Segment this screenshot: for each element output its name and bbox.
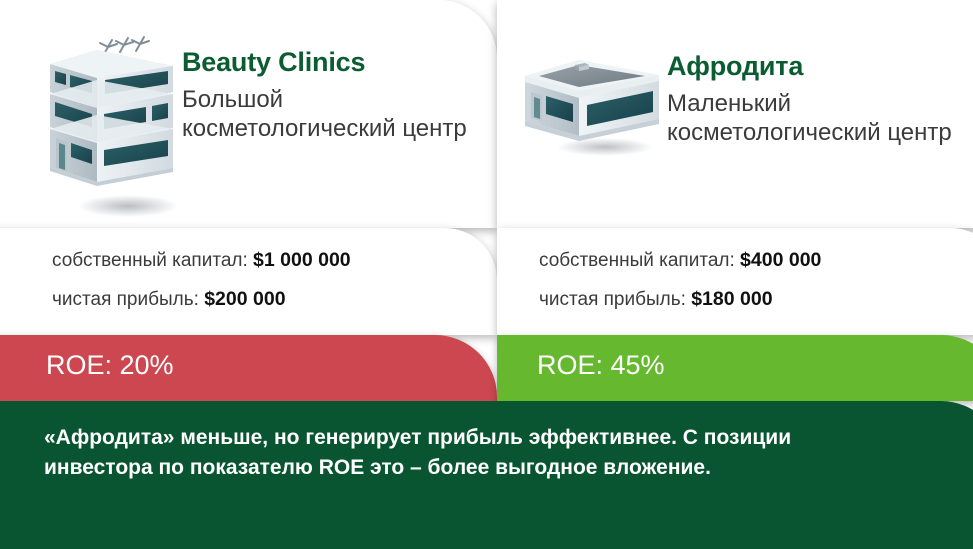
conclusion-banner: «Афродита» меньше, но генерирует прибыль… <box>0 401 973 549</box>
roe-value-label: ROE: 45% <box>537 352 665 379</box>
company-header-afrodita: Афродита Маленький косметологический цен… <box>517 48 967 158</box>
metrics-list: собственный капитал: $400 000 чистая при… <box>539 251 821 309</box>
metric-label: чистая прибыль: <box>539 289 686 310</box>
company-text-afrodita: Афродита Маленький косметологический цен… <box>667 48 967 147</box>
company-text-beauty-clinics: Beauty Clinics Большой косметологический… <box>182 30 482 143</box>
metric-label: собственный капитал: <box>539 250 735 271</box>
company-card-beauty-clinics: Beauty Clinics Большой косметологический… <box>0 0 497 228</box>
roe-comparison-infographic: Beauty Clinics Большой косметологический… <box>0 0 973 549</box>
company-card-afrodita: Афродита Маленький косметологический цен… <box>497 0 973 228</box>
metric-row-equity: собственный капитал: $400 000 <box>539 251 821 271</box>
company-name: Beauty Clinics <box>182 48 482 78</box>
company-header-beauty-clinics: Beauty Clinics Большой косметологический… <box>42 30 482 220</box>
metric-label: чистая прибыль: <box>52 289 199 310</box>
roe-value-label: ROE: 20% <box>46 352 174 379</box>
company-description: Большой косметологический центр <box>182 85 482 144</box>
metric-row-net-profit: чистая прибыль: $180 000 <box>539 290 821 310</box>
company-name: Афродита <box>667 52 967 82</box>
metrics-list: собственный капитал: $1 000 000 чистая п… <box>52 251 351 309</box>
metric-value: $400 000 <box>740 249 821 271</box>
metric-value: $200 000 <box>204 288 285 310</box>
metric-value: $1 000 000 <box>253 249 351 271</box>
small-office-building-icon <box>517 48 667 158</box>
large-office-building-icon <box>42 30 182 220</box>
metric-row-equity: собственный капитал: $1 000 000 <box>52 251 351 271</box>
metric-label: собственный капитал: <box>52 250 248 271</box>
company-description: Маленький косметологический центр <box>667 89 967 148</box>
roe-bar-afrodita: ROE: 45% <box>497 335 973 401</box>
metrics-box-beauty-clinics: собственный капитал: $1 000 000 чистая п… <box>0 228 497 335</box>
metric-value: $180 000 <box>691 288 772 310</box>
metrics-box-afrodita: собственный капитал: $400 000 чистая при… <box>497 228 973 335</box>
conclusion-text: «Афродита» меньше, но генерирует прибыль… <box>44 423 884 484</box>
metric-row-net-profit: чистая прибыль: $200 000 <box>52 290 351 310</box>
roe-bar-beauty-clinics: ROE: 20% <box>0 335 497 401</box>
